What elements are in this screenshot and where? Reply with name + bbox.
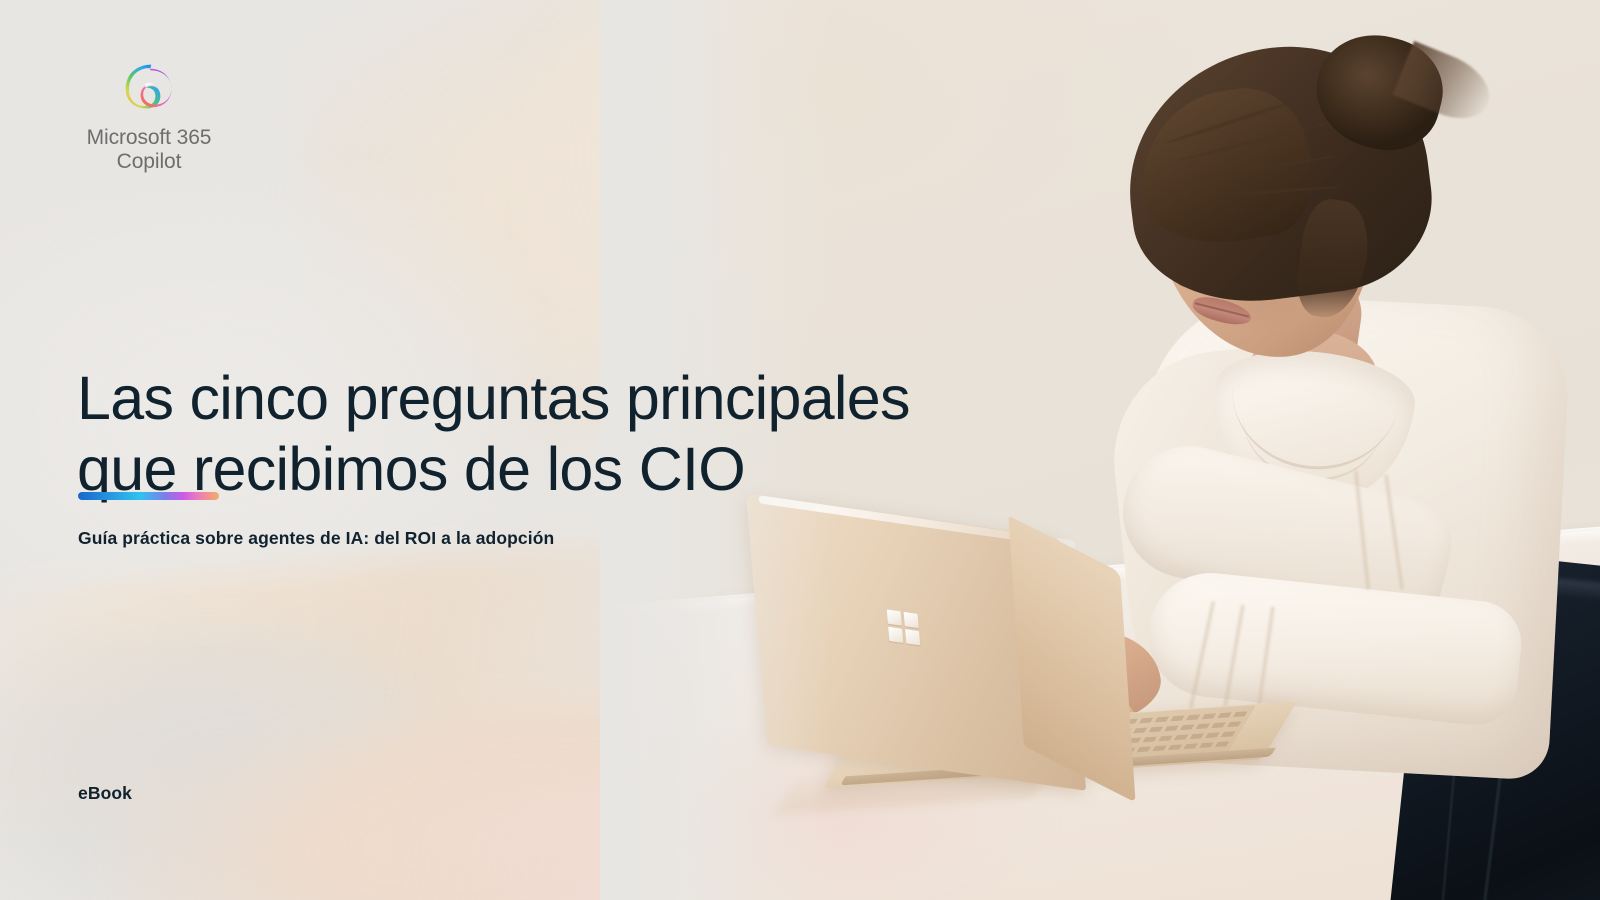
gradient-accent-bar <box>78 492 219 500</box>
document-type-label: eBook <box>78 783 132 804</box>
brand-lockup: Microsoft 365 Copilot <box>68 62 230 174</box>
windows-logo-quadrant <box>887 609 902 625</box>
brand-name: Microsoft 365 Copilot <box>68 126 230 174</box>
windows-logo-quadrant <box>904 612 919 628</box>
page-subtitle: Guía práctica sobre agentes de IA: del R… <box>78 528 898 549</box>
ebook-cover: Microsoft 365 Copilot Las cinco pregunta… <box>0 0 1600 900</box>
windows-logo-quadrant <box>905 629 920 645</box>
page-title: Las cinco preguntas principales que reci… <box>77 363 997 506</box>
windows-logo-quadrant <box>888 627 903 643</box>
copilot-logo-icon <box>120 62 178 116</box>
windows-logo-icon <box>887 609 922 646</box>
